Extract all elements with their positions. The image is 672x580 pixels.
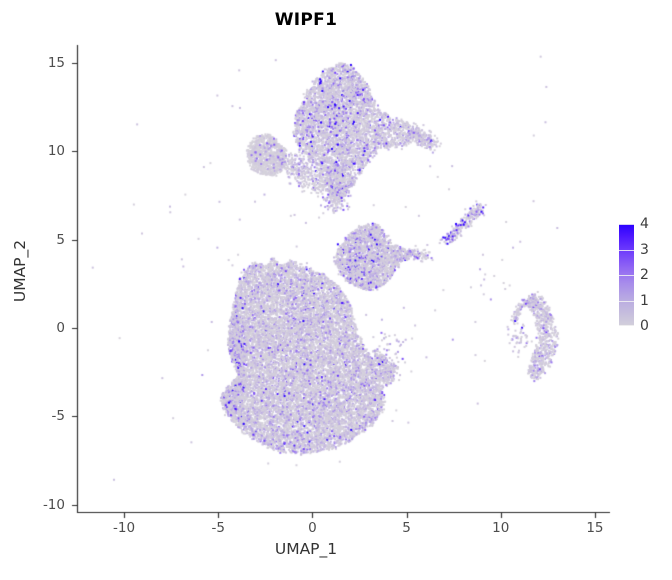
- colorbar-tick: [619, 250, 634, 251]
- colorbar-tick-label: 2: [640, 268, 649, 282]
- x-tick-label: 5: [387, 520, 427, 536]
- y-tick-label: 0: [25, 320, 65, 336]
- x-axis-title: UMAP_1: [0, 540, 612, 558]
- colorbar-tick: [619, 275, 634, 276]
- x-tick-label: -5: [198, 520, 238, 536]
- colorbar-tick: [619, 325, 634, 326]
- x-tick-label: 15: [575, 520, 615, 536]
- y-tick-label: 5: [25, 232, 65, 248]
- colorbar-tick: [619, 224, 634, 225]
- colorbar-tick-label: 0: [640, 319, 649, 333]
- colorbar-tick: [619, 301, 634, 302]
- colorbar-tick-label: 4: [640, 217, 649, 231]
- x-tick-label: -10: [104, 520, 144, 536]
- y-tick-label: -10: [25, 497, 65, 513]
- scatter-plot-canvas: [0, 0, 672, 576]
- y-tick-label: 15: [25, 55, 65, 71]
- y-tick-label: 10: [25, 143, 65, 159]
- colorbar-tick-label: 3: [640, 243, 649, 257]
- color-legend: 43210: [619, 224, 634, 326]
- x-tick-label: 10: [481, 520, 521, 536]
- scatter-canvas-container: [0, 0, 672, 580]
- y-tick-label: -5: [25, 408, 65, 424]
- colorbar-tick-label: 1: [640, 294, 649, 308]
- x-tick-label: 0: [292, 520, 332, 536]
- umap-feature-plot: WIPF1 UMAP_1 UMAP_2 -10-5051015 151050-5…: [0, 0, 672, 576]
